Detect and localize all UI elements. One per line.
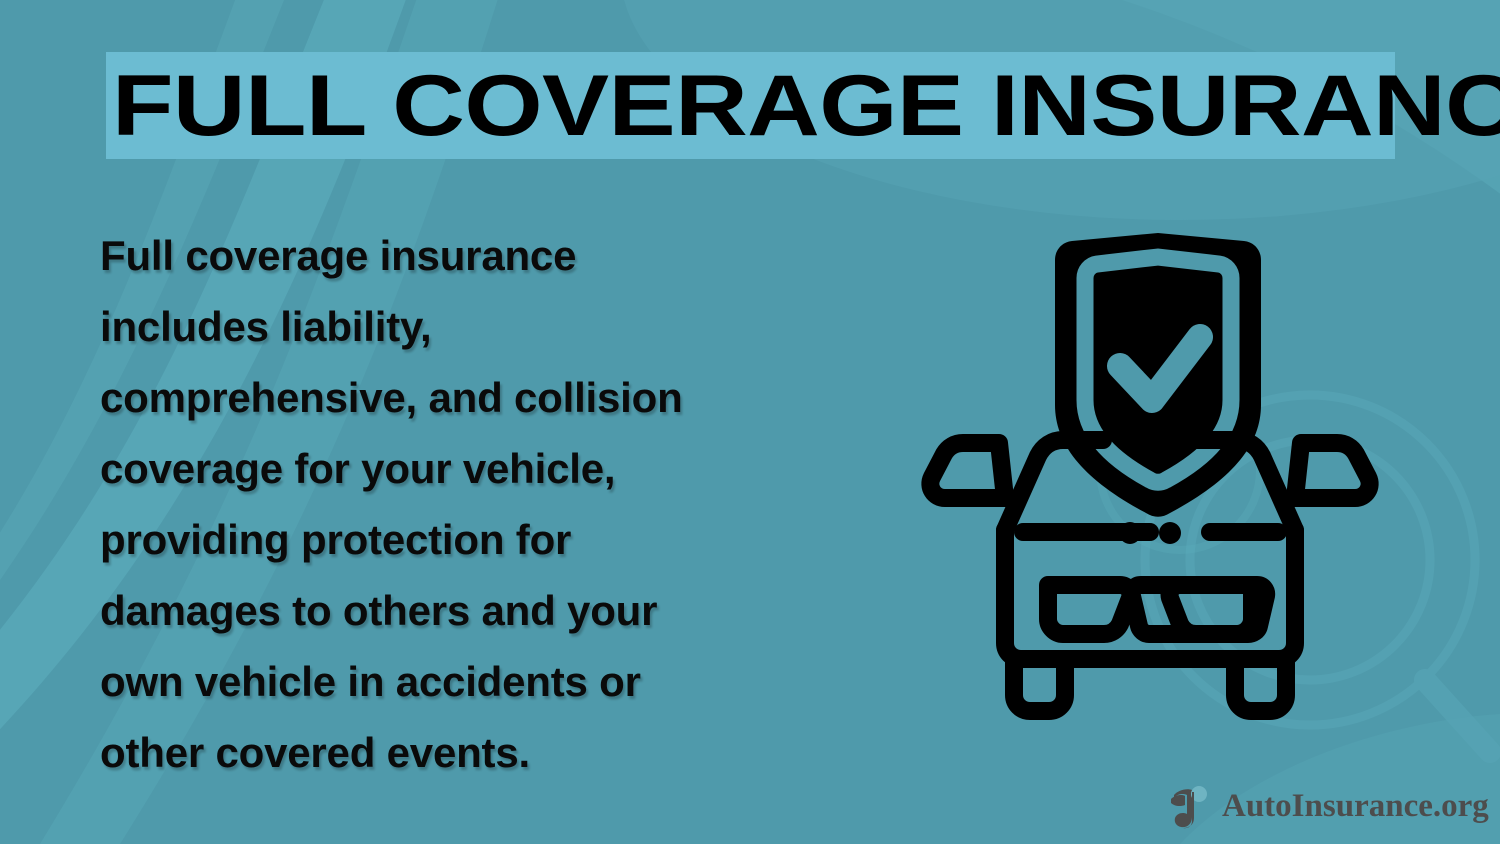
shield-check-icon xyxy=(1055,233,1261,517)
brand-logo[interactable]: AutoInsurance.org xyxy=(1168,780,1489,832)
body-line: Full coverage insurance xyxy=(100,220,860,291)
body-line: own vehicle in accidents or xyxy=(100,646,860,717)
body-line: includes liability, xyxy=(100,291,860,362)
body-line: comprehensive, and collision xyxy=(100,362,860,433)
body-paragraph: Full coverage insurance includes liabili… xyxy=(100,220,860,788)
insurance-illustration xyxy=(880,230,1420,780)
car-dot-left xyxy=(1119,522,1141,544)
body-line: coverage for your vehicle, xyxy=(100,433,860,504)
car-dot-right xyxy=(1159,522,1181,544)
body-line: damages to others and your xyxy=(100,575,860,646)
page-title: FULL COVERAGE INSURANCE xyxy=(112,48,1500,164)
aj-monogram-icon xyxy=(1168,783,1212,829)
body-line: providing protection for xyxy=(100,504,860,575)
body-line: other covered events. xyxy=(100,717,860,788)
brand-name: AutoInsurance.org xyxy=(1222,788,1489,825)
